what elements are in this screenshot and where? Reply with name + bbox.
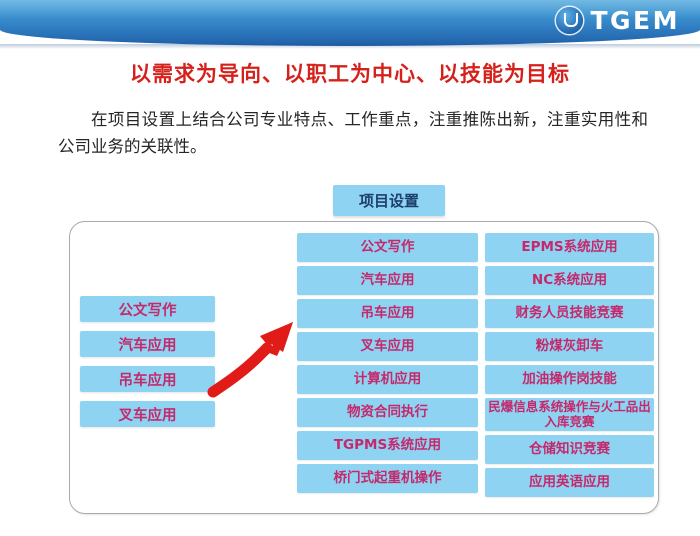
center-item-8: 桥门式起重机操作 [297, 464, 478, 493]
right-item-5: 加油操作岗技能 [485, 365, 654, 394]
app-header-bar: TGEM [0, 0, 700, 46]
right-item-4: 粉煤灰卸车 [485, 332, 654, 361]
center-item-4: 叉车应用 [297, 332, 478, 361]
center-column: 公文写作 汽车应用 吊车应用 叉车应用 计算机应用 物资合同执行 TGPMS系统… [297, 233, 478, 497]
center-item-1: 公文写作 [297, 233, 478, 262]
center-item-3: 吊车应用 [297, 299, 478, 328]
right-column: EPMS系统应用 NC系统应用 财务人员技能竞赛 粉煤灰卸车 加油操作岗技能 民… [485, 233, 654, 497]
right-item-2: NC系统应用 [485, 266, 654, 295]
slide-paragraph: 在项目设置上结合公司专业特点、工作重点，注重推陈出新，注重实用性和公司业务的关联… [58, 106, 648, 160]
left-item-1: 公文写作 [80, 296, 215, 322]
center-item-2: 汽车应用 [297, 266, 478, 295]
brand-logo: TGEM [556, 7, 680, 34]
project-items-grid: 公文写作 汽车应用 吊车应用 叉车应用 计算机应用 物资合同执行 TGPMS系统… [297, 233, 654, 497]
right-item-1: EPMS系统应用 [485, 233, 654, 262]
center-item-6: 物资合同执行 [297, 398, 478, 427]
left-category-stack: 公文写作 汽车应用 吊车应用 叉车应用 [80, 296, 215, 427]
center-item-7: TGPMS系统应用 [297, 431, 478, 460]
right-item-8: 应用英语应用 [485, 468, 654, 497]
slide-title: 以需求为导向、以职工为中心、以技能为目标 [0, 58, 700, 88]
left-item-4: 叉车应用 [80, 401, 215, 427]
center-item-5: 计算机应用 [297, 365, 478, 394]
header-drop-shadow [0, 44, 700, 49]
brand-logo-text: TGEM [590, 8, 680, 33]
diagram-header-box: 项目设置 [333, 185, 445, 216]
left-item-3: 吊车应用 [80, 366, 215, 392]
right-item-7: 仓储知识竞赛 [485, 435, 654, 464]
tgem-circle-logo-icon [556, 7, 583, 34]
left-item-2: 汽车应用 [80, 331, 215, 357]
right-item-6: 民爆信息系统操作与火工品出入库竞赛 [485, 398, 654, 431]
right-item-3: 财务人员技能竞赛 [485, 299, 654, 328]
